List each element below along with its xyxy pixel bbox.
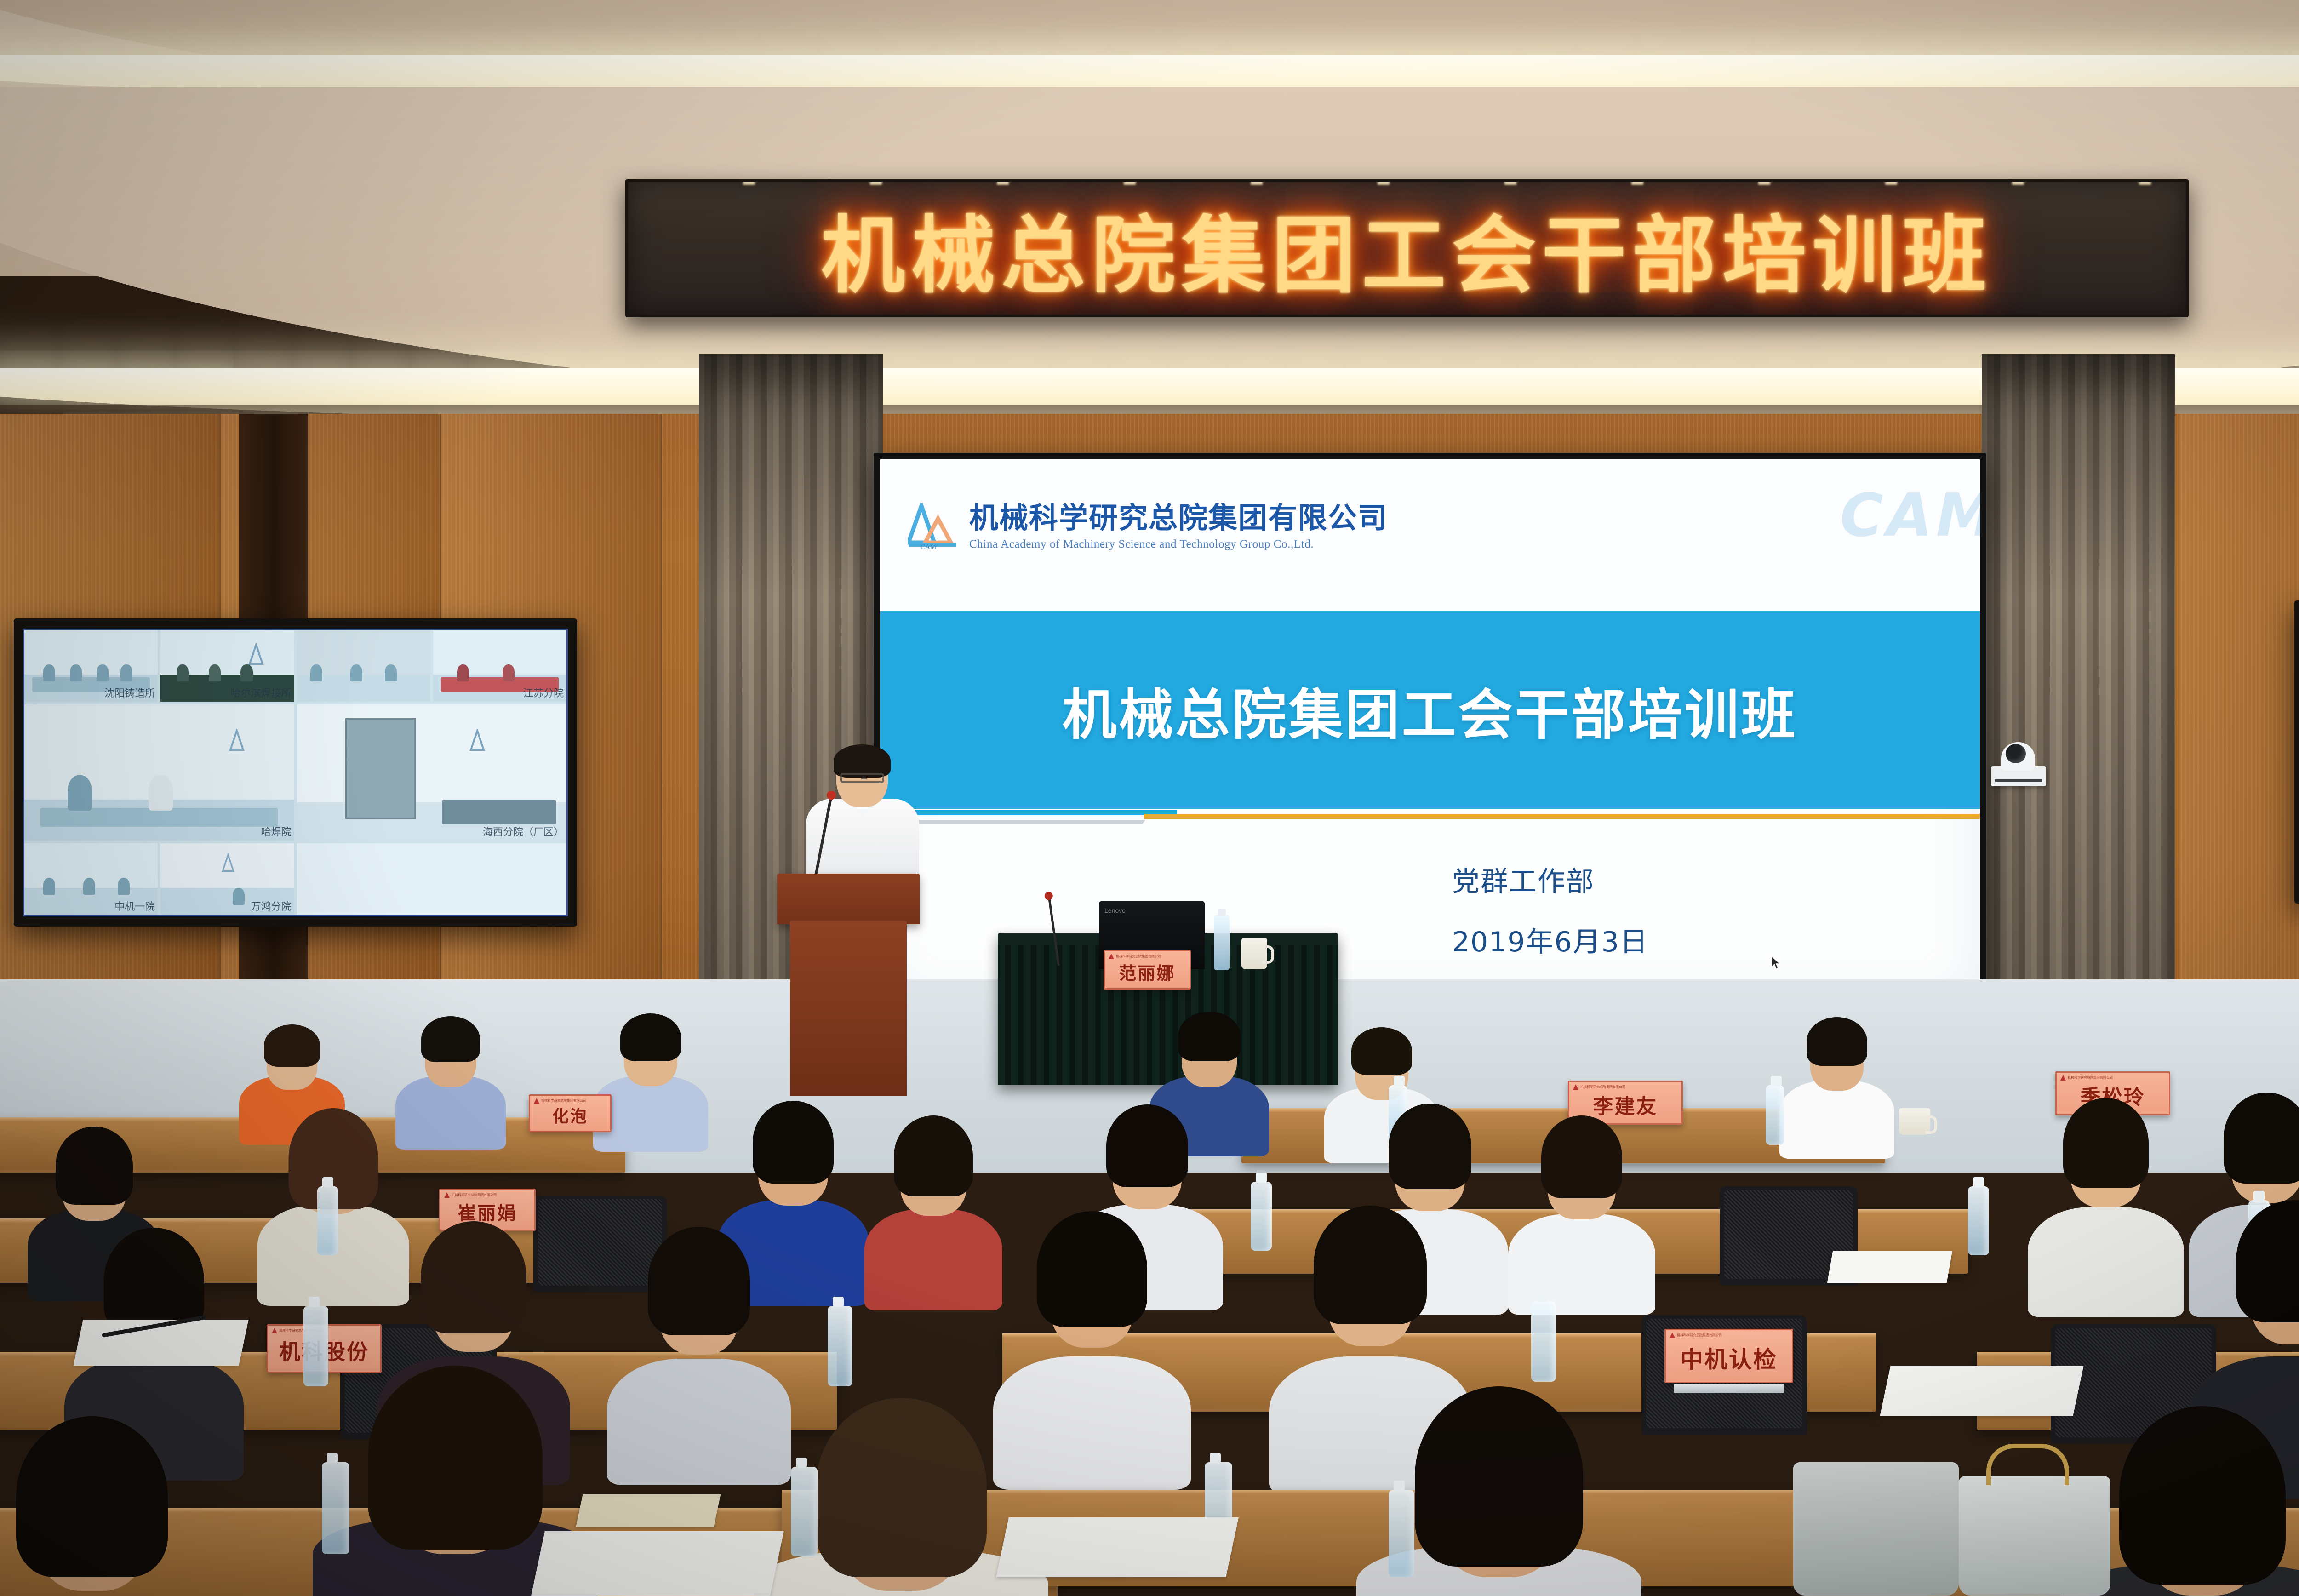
paper-sheet bbox=[1827, 1251, 1952, 1283]
video-wall-left-grid: 沈阳铸造所 哈尔滨焊接所 江苏分院 bbox=[23, 629, 568, 916]
video-cell: 万鸿分院 bbox=[160, 843, 294, 915]
video-cell-label: 沈阳铸造所 bbox=[104, 685, 155, 700]
placard-stand bbox=[1674, 1384, 1784, 1393]
water-bottle bbox=[828, 1306, 852, 1386]
placard-org-logo: 机械科学研究总院集团有限公司 bbox=[1109, 954, 1161, 959]
placard-org-logo: 机械科学研究总院集团有限公司 bbox=[1573, 1084, 1625, 1090]
video-wall-right: 沈阳铸造所 哈尔滨焊接所 江苏分院 bbox=[2294, 600, 2299, 904]
banner-led-dots bbox=[628, 179, 2186, 185]
video-cell-label: 哈焊院 bbox=[261, 824, 291, 839]
placard-org-logo: 机械科学研究总院集团有限公司 bbox=[534, 1098, 586, 1104]
video-cell: 江苏分院 bbox=[433, 630, 566, 702]
svg-text:CAM: CAM bbox=[921, 543, 936, 551]
video-cell: 沈阳铸造所 bbox=[24, 630, 158, 702]
video-cell-label: 万鸿分院 bbox=[251, 898, 291, 913]
water-bottle bbox=[1531, 1301, 1556, 1382]
paper-sheet bbox=[1880, 1366, 2083, 1416]
attendee bbox=[2028, 1085, 2184, 1297]
water-bottle bbox=[322, 1462, 349, 1554]
cam-watermark: CAM bbox=[1840, 481, 1980, 550]
attendee bbox=[1508, 1099, 1655, 1297]
slide-accent-stripes bbox=[880, 810, 1980, 825]
coffee-mug bbox=[1241, 938, 1267, 969]
attendee bbox=[864, 1099, 1002, 1292]
name-placard: 机械科学研究总院集团有限公司 化泡 bbox=[529, 1094, 612, 1132]
stripe-gold bbox=[1144, 814, 1980, 819]
slide-title-text: 机械总院集团工会干部培训班 bbox=[880, 611, 1980, 809]
company-logo: CAM 机械科学研究总院集团有限公司 China Academy of Mach… bbox=[908, 503, 1388, 551]
video-cell-label: 哈尔滨焊接所 bbox=[230, 685, 291, 700]
attendee bbox=[395, 1012, 506, 1145]
placard-name-text: 化泡 bbox=[552, 1103, 588, 1127]
company-name-cn: 机械科学研究总院集团有限公司 bbox=[969, 503, 1388, 533]
projection-screen: CAM 机械科学研究总院集团有限公司 China Academy of Mach… bbox=[874, 453, 1986, 1012]
placard-org-logo: 机械科学研究总院集团有限公司 bbox=[444, 1192, 497, 1198]
video-cell: 哈尔滨焊接所 bbox=[160, 630, 294, 702]
paper-sheet bbox=[996, 1517, 1239, 1577]
slide-footer-date: 2019年6月3日 bbox=[1452, 920, 1980, 960]
backpack bbox=[1793, 1462, 1959, 1596]
water-bottle bbox=[791, 1467, 818, 1556]
presentation-slide: CAM 机械科学研究总院集团有限公司 China Academy of Mach… bbox=[880, 459, 1980, 1005]
led-banner-text: 机械总院集团工会干部培训班 bbox=[821, 188, 1993, 309]
handbag bbox=[1959, 1476, 2110, 1596]
video-cell-large: 哈焊院 bbox=[24, 704, 294, 841]
paper-sheet bbox=[531, 1531, 784, 1596]
audience-area: 机械科学研究总院集团有限公司 化泡 机械科学研究总院集团有限公司 李建友 机械科… bbox=[0, 1002, 2299, 1596]
video-cell-blank bbox=[297, 843, 567, 915]
mouse-cursor-icon bbox=[1771, 956, 1781, 971]
placard-org-logo: 机械科学研究总院集团有限公司 bbox=[2060, 1075, 2113, 1081]
placard-name-text: 范丽娜 bbox=[1119, 959, 1175, 984]
water-bottle bbox=[317, 1186, 338, 1255]
glasses-icon bbox=[840, 773, 884, 783]
camtc-triangle-logo-icon: CAM bbox=[908, 503, 959, 551]
company-name-en: China Academy of Machinery Science and T… bbox=[969, 538, 1388, 551]
placard-name-text: 中机认检 bbox=[1680, 1341, 1778, 1374]
handbag-handle bbox=[1986, 1444, 2069, 1485]
video-wall-left: 沈阳铸造所 哈尔滨焊接所 江苏分院 bbox=[14, 618, 577, 927]
water-bottle bbox=[1389, 1490, 1414, 1577]
attendee bbox=[1779, 1012, 1894, 1150]
video-cell-label: 江苏分院 bbox=[523, 685, 564, 700]
water-bottle bbox=[1766, 1085, 1784, 1145]
video-cell-label: 海西分院（厂区） bbox=[483, 824, 564, 839]
ptz-conference-camera-icon bbox=[1991, 736, 2046, 786]
video-cell-large: 海西分院（厂区） bbox=[297, 704, 567, 841]
video-cell: 中机一院 bbox=[24, 843, 158, 915]
attendee bbox=[0, 1407, 212, 1596]
led-banner: 机械总院集团工会干部培训班 bbox=[625, 179, 2189, 317]
water-bottle bbox=[1968, 1186, 1989, 1255]
video-cell bbox=[297, 630, 430, 702]
conference-room-photo: 机械总院集团工会干部培训班 CAM 机械科学研究总院集团 bbox=[0, 0, 2299, 1596]
name-placard: 机械科学研究总院集团有限公司 范丽娜 bbox=[1104, 950, 1191, 990]
water-bottle bbox=[1214, 915, 1230, 970]
placard-org-logo: 机械科学研究总院集团有限公司 bbox=[1670, 1333, 1722, 1338]
notebook bbox=[576, 1494, 721, 1527]
name-placard: 机械科学研究总院集团有限公司 中机认检 bbox=[1664, 1329, 1793, 1383]
slide-header: CAM 机械科学研究总院集团有限公司 China Academy of Mach… bbox=[880, 459, 1980, 611]
coffee-mug bbox=[1899, 1108, 1930, 1135]
video-cell-label: 中机一院 bbox=[114, 898, 155, 913]
laptop-brand-label: Lenovo bbox=[1104, 907, 1126, 914]
slide-footer-department: 党群工作部 bbox=[1452, 859, 1980, 899]
